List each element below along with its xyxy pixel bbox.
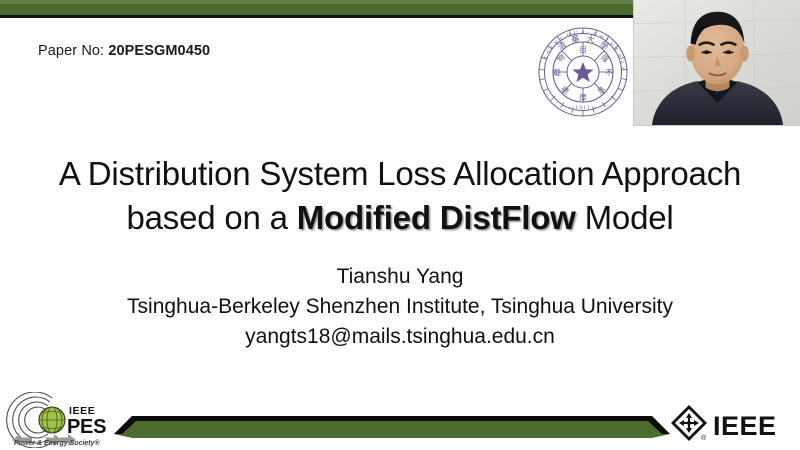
title-line-2-after: Model bbox=[576, 199, 674, 236]
svg-text:®: ® bbox=[701, 434, 707, 442]
author-affiliation: Tsinghua-Berkeley Shenzhen Institute, Ts… bbox=[30, 292, 770, 322]
svg-text:~ 1911 ~: ~ 1911 ~ bbox=[568, 105, 597, 111]
author-email: yangts18@mails.tsinghua.edu.cn bbox=[30, 322, 770, 352]
page-title: A Distribution System Loss Allocation Ap… bbox=[30, 152, 770, 240]
ieee-logo-text: IEEE bbox=[713, 411, 777, 441]
title-line-2: based on a Modified DistFlow Model bbox=[30, 196, 770, 240]
paper-number-value: 20PESGM0450 bbox=[108, 43, 210, 59]
title-line-2-before: based on a bbox=[126, 199, 296, 236]
paper-number: Paper No: 20PESGM0450 bbox=[38, 43, 210, 59]
title-emphasis: Modified DistFlow bbox=[297, 199, 576, 236]
ieee-logo: ® IEEE bbox=[668, 402, 796, 444]
svg-text:不: 不 bbox=[605, 68, 613, 77]
paper-number-label: Paper No: bbox=[38, 43, 104, 59]
presenter-webcam-video[interactable] bbox=[633, 0, 800, 126]
svg-text:物: 物 bbox=[555, 51, 568, 64]
title-line-1: A Distribution System Loss Allocation Ap… bbox=[30, 152, 770, 196]
pes-logo-tagline: Power & Energy Society® bbox=[14, 439, 101, 447]
svg-text:自: 自 bbox=[579, 44, 587, 54]
author-block: Tianshu Yang Tsinghua-Berkeley Shenzhen … bbox=[30, 262, 770, 351]
author-name: Tianshu Yang bbox=[30, 262, 770, 292]
presentation-slide: Paper No: 20PESGM0450 bbox=[0, 0, 800, 450]
bottom-banner bbox=[114, 412, 670, 440]
svg-text:载: 载 bbox=[553, 67, 561, 77]
tsinghua-seal-icon: · T S I N G H U A · U N I V E R S I T Y … bbox=[533, 22, 633, 122]
pes-logo-pes-text: PES bbox=[67, 416, 106, 438]
svg-text:大: 大 bbox=[586, 33, 596, 44]
svg-text:厚: 厚 bbox=[579, 93, 587, 102]
ieee-pes-logo: IEEE PES Power & Energy Society® bbox=[6, 392, 130, 448]
